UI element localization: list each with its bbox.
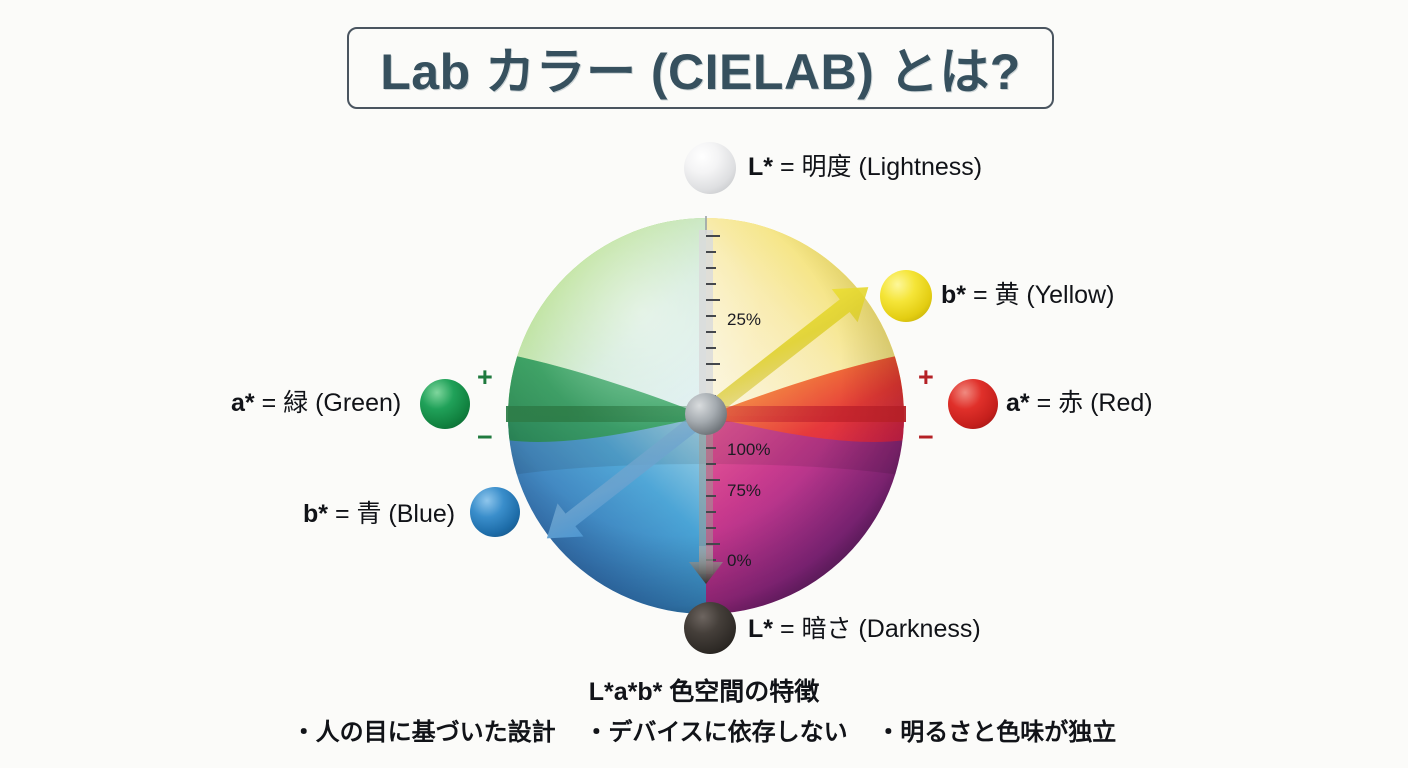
tick-label-25: 25%	[727, 310, 761, 330]
lightness-ball	[684, 142, 736, 194]
darkness-label-bold: L*	[748, 615, 773, 643]
blue-label: b* = 青 (Blue)	[303, 502, 455, 527]
caption-bullet-3: ・明るさと色味が独立	[876, 719, 1116, 746]
lightness-label-bold: L*	[748, 153, 773, 181]
green-label-rest: = 緑 (Green)	[255, 389, 402, 417]
caption-bullets: ・人の目に基づいた設計 ・デバイスに依存しない ・明るさと色味が独立	[0, 712, 1408, 747]
yellow-label-bold: b*	[941, 281, 966, 309]
blue-label-rest: = 青 (Blue)	[328, 500, 455, 528]
caption-bullet-2: ・デバイスに依存しない	[584, 719, 847, 746]
green-ball	[420, 379, 470, 429]
caption-heading: L*a*b* 色空間の特徴	[0, 672, 1408, 708]
lightness-label: L* = 明度 (Lightness)	[748, 155, 982, 180]
red-label: a* = 赤 (Red)	[1006, 391, 1153, 416]
caption-bullet-1: ・人の目に基づいた設計	[292, 719, 556, 746]
yellow-label: b* = 黄 (Yellow)	[941, 283, 1114, 308]
green-plus-sign: +	[477, 364, 493, 391]
ruler-body-upper	[699, 230, 713, 416]
sphere-svg	[506, 216, 906, 616]
red-ball	[948, 379, 998, 429]
page-title: Lab カラー (CIELAB) とは?	[380, 32, 1021, 104]
darkness-ball	[684, 602, 736, 654]
blue-ball	[470, 487, 520, 537]
green-label-bold: a*	[231, 389, 255, 417]
darkness-label-rest: = 暗さ (Darkness)	[773, 615, 981, 643]
title-box: Lab カラー (CIELAB) とは?	[347, 27, 1054, 109]
center-node	[685, 393, 727, 435]
tick-label-0: 0%	[727, 551, 752, 571]
slide-canvas: Lab カラー (CIELAB) とは?	[0, 0, 1408, 768]
lab-sphere-diagram: 100% 25% 75% 0%	[506, 216, 906, 616]
red-minus-sign: −	[918, 424, 934, 451]
tick-label-75: 75%	[727, 481, 761, 501]
red-label-rest: = 赤 (Red)	[1030, 389, 1153, 417]
red-label-bold: a*	[1006, 389, 1030, 417]
red-plus-sign: +	[918, 364, 934, 391]
tick-label-100: 100%	[727, 440, 770, 460]
yellow-ball	[880, 270, 932, 322]
green-minus-sign: −	[477, 424, 493, 451]
yellow-label-rest: = 黄 (Yellow)	[966, 281, 1114, 309]
green-label: a* = 緑 (Green)	[231, 391, 401, 416]
lightness-label-rest: = 明度 (Lightness)	[773, 153, 982, 181]
blue-label-bold: b*	[303, 500, 328, 528]
darkness-label: L* = 暗さ (Darkness)	[748, 617, 981, 642]
